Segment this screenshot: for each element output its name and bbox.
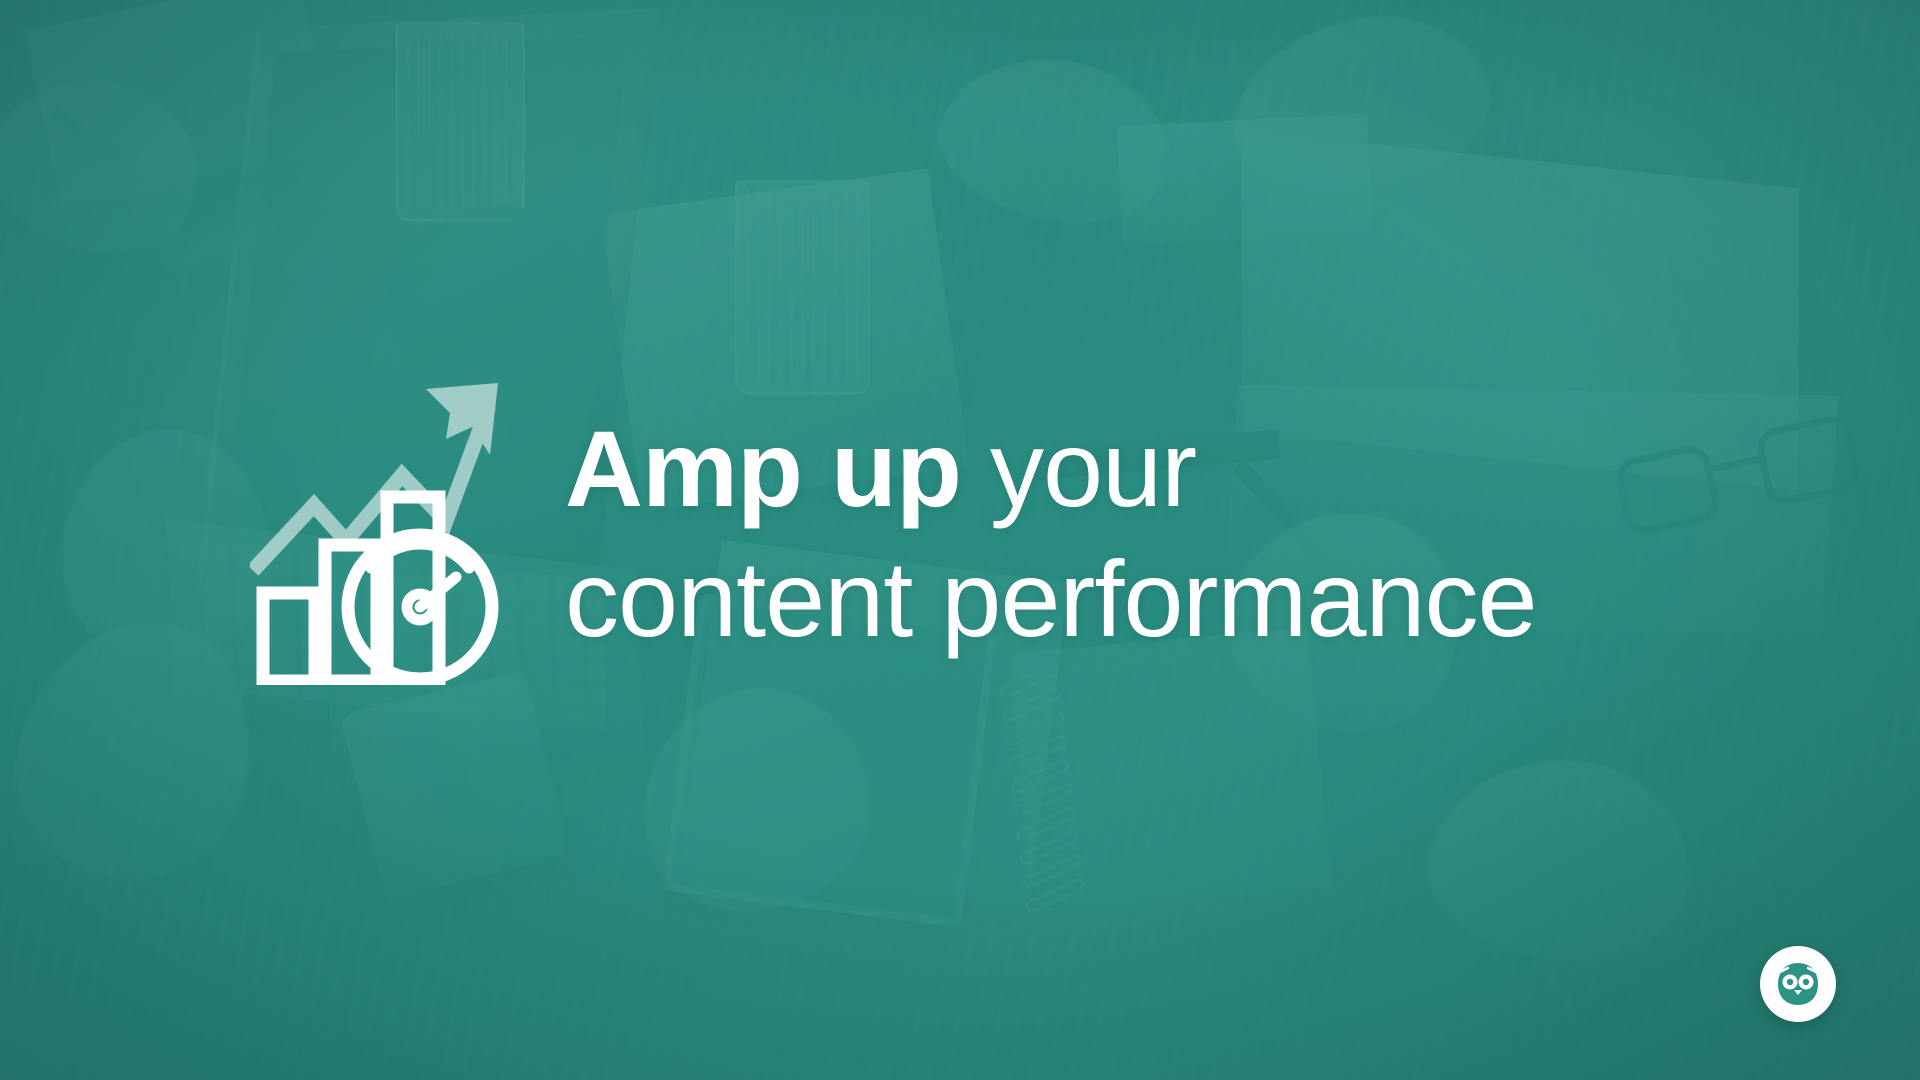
trending-up-arrow-icon <box>258 383 498 565</box>
page-title: Amp up your content performance <box>565 415 1695 653</box>
headline-emphasis: Amp up <box>565 408 961 529</box>
owl-face-logo-icon[interactable] <box>1760 946 1836 1022</box>
growth-chart-gauge-icon <box>250 355 520 685</box>
headline-line-1: Amp up your <box>565 415 1695 523</box>
banner-content: Amp up your content performance <box>0 0 1920 1080</box>
headline-line-2: content performance <box>565 545 1695 653</box>
banner-canvas: Amp up your content performance <box>0 0 1920 1080</box>
headline-line-1-rest: your <box>961 408 1196 529</box>
speedometer-gauge-icon <box>348 535 492 679</box>
